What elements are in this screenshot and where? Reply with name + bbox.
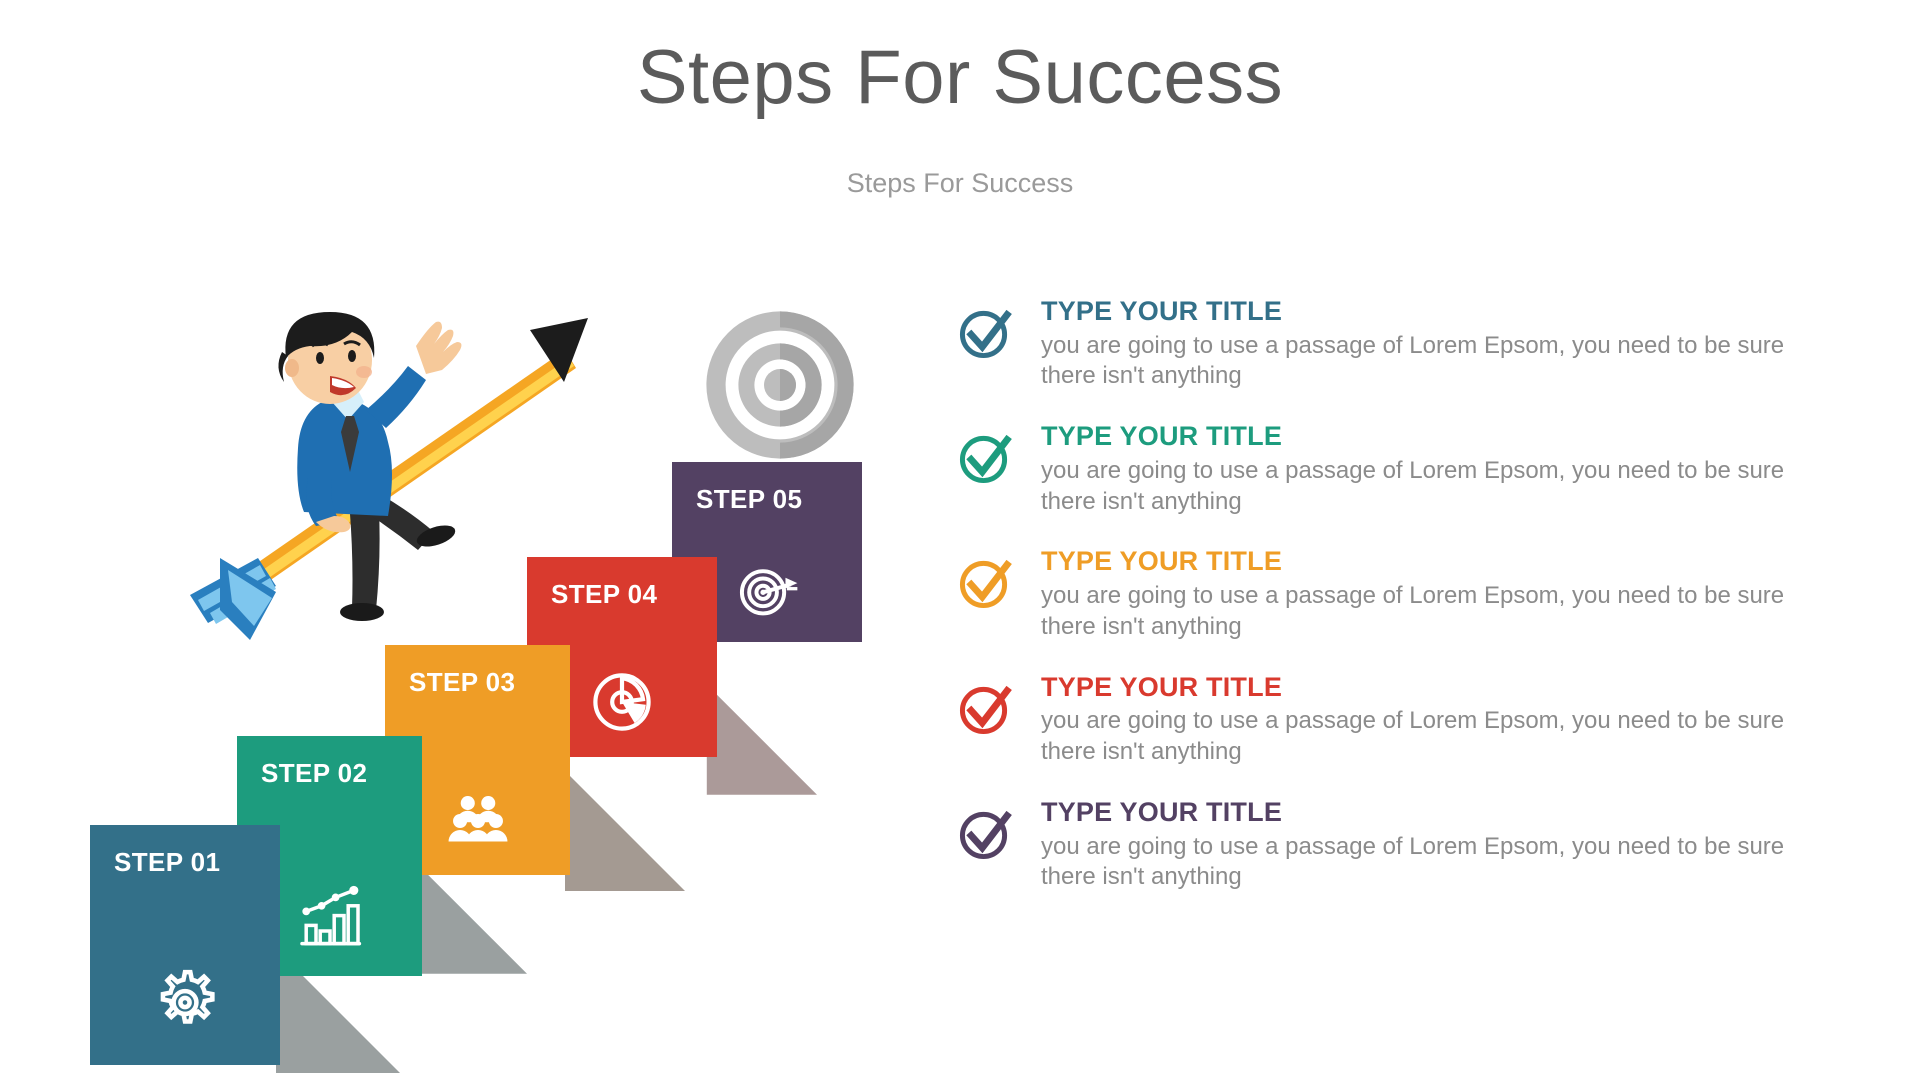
list-item-text: TYPE YOUR TITLE you are going to use a p… <box>1041 545 1855 642</box>
list-item-text: TYPE YOUR TITLE you are going to use a p… <box>1041 671 1855 768</box>
staircase-graphic: STEP 05 STEP 04 <box>0 250 900 1080</box>
bar-chart-icon <box>295 882 365 952</box>
step-3-label: STEP 03 <box>409 667 515 698</box>
check-circle-icon <box>955 295 1041 368</box>
check-circle-icon <box>955 545 1041 618</box>
list-item-desc: you are going to use a passage of Lorem … <box>1041 331 1831 392</box>
list-item-desc: you are going to use a passage of Lorem … <box>1041 832 1831 893</box>
list-item[interactable]: TYPE YOUR TITLE you are going to use a p… <box>955 796 1855 893</box>
list-item-text: TYPE YOUR TITLE you are going to use a p… <box>1041 295 1855 392</box>
list-item-desc: you are going to use a passage of Lorem … <box>1041 581 1831 642</box>
gear-icon <box>147 963 223 1039</box>
target-arrow-icon <box>734 558 800 624</box>
page-title: Steps For Success <box>0 38 1920 118</box>
list-item-title: TYPE YOUR TITLE <box>1041 420 1855 454</box>
list-item-desc: you are going to use a passage of Lorem … <box>1041 456 1831 517</box>
list-item[interactable]: TYPE YOUR TITLE you are going to use a p… <box>955 545 1855 642</box>
list-item[interactable]: TYPE YOUR TITLE you are going to use a p… <box>955 671 1855 768</box>
step-2-label: STEP 02 <box>261 758 367 789</box>
step-1-label: STEP 01 <box>114 847 220 878</box>
list-item-title: TYPE YOUR TITLE <box>1041 671 1855 705</box>
list-item-title: TYPE YOUR TITLE <box>1041 545 1855 579</box>
slide-canvas: Steps For Success Steps For Success <box>0 0 1920 1080</box>
pie-chart-icon <box>587 667 657 737</box>
gray-bullseye-target-icon <box>700 305 860 465</box>
step-5-label: STEP 05 <box>696 484 802 515</box>
check-circle-icon <box>955 796 1041 869</box>
list-item-text: TYPE YOUR TITLE you are going to use a p… <box>1041 796 1855 893</box>
list-item-title: TYPE YOUR TITLE <box>1041 295 1855 329</box>
check-circle-icon <box>955 420 1041 493</box>
step-block-1[interactable]: STEP 01 <box>90 825 280 1065</box>
benefits-list: TYPE YOUR TITLE you are going to use a p… <box>955 295 1855 921</box>
list-item-desc: you are going to use a passage of Lorem … <box>1041 706 1831 767</box>
page-subtitle: Steps For Success <box>0 168 1920 199</box>
list-item[interactable]: TYPE YOUR TITLE you are going to use a p… <box>955 295 1855 392</box>
businessman-riding-arrow-illustration <box>180 310 620 640</box>
list-item-title: TYPE YOUR TITLE <box>1041 796 1855 830</box>
people-group-icon <box>441 789 515 853</box>
list-item-text: TYPE YOUR TITLE you are going to use a p… <box>1041 420 1855 517</box>
list-item[interactable]: TYPE YOUR TITLE you are going to use a p… <box>955 420 1855 517</box>
check-circle-icon <box>955 671 1041 744</box>
